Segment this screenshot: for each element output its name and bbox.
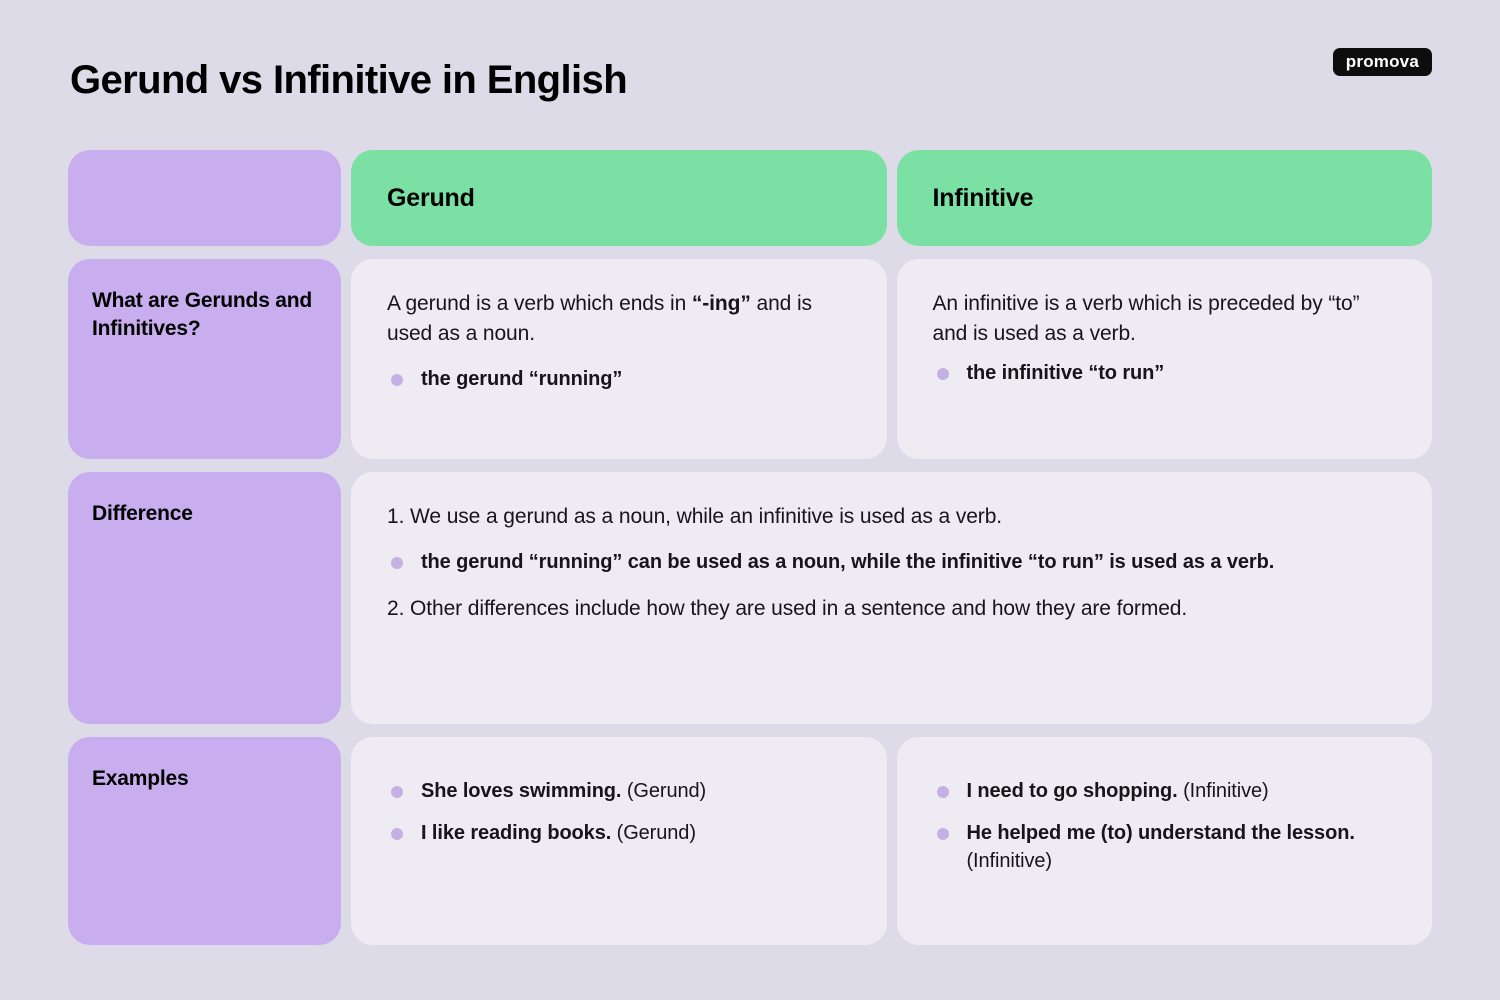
row-label-text: Examples — [92, 765, 317, 793]
header-cell-infinitive: Infinitive — [897, 150, 1433, 246]
bullet-dot-icon — [391, 374, 403, 386]
difference-bullets: the gerund “running” can be used as a no… — [387, 548, 1396, 576]
infinitive-definition-paragraph: An infinitive is a verb which is precede… — [933, 289, 1397, 349]
row-label-definitions: What are Gerunds and Infinitives? — [68, 259, 341, 459]
table-row: Difference 1. We use a gerund as a noun,… — [68, 472, 1432, 724]
header-cell-gerund: Gerund — [351, 150, 887, 246]
bullet-dot-icon — [937, 368, 949, 380]
table-header-row: Gerund Infinitive — [68, 150, 1432, 246]
list-item: the gerund “running” — [387, 365, 851, 393]
list-item: I need to go shopping. (Infinitive) — [933, 777, 1397, 805]
cell-difference-content: 1. We use a gerund as a noun, while an i… — [351, 472, 1432, 724]
bullet-text: the gerund “running” can be used as a no… — [421, 551, 1274, 573]
infinitive-example-bullets: I need to go shopping. (Infinitive) He h… — [933, 777, 1397, 875]
bullet-dot-icon — [937, 786, 949, 798]
bullet-dot-icon — [937, 828, 949, 840]
bullet-note: (Gerund) — [621, 780, 706, 802]
bullet-dot-icon — [391, 828, 403, 840]
page-title: Gerund vs Infinitive in English — [70, 58, 627, 103]
cell-infinitive-definition: An infinitive is a verb which is precede… — [897, 259, 1433, 459]
difference-paragraph-1: 1. We use a gerund as a noun, while an i… — [387, 502, 1396, 532]
row-label-text: Difference — [92, 500, 317, 528]
row-label-examples: Examples — [68, 737, 341, 945]
cell-gerund-definition: A gerund is a verb which ends in “-ing” … — [351, 259, 887, 459]
promova-logo-text: promova — [1346, 53, 1419, 70]
comparison-table: Gerund Infinitive What are Gerunds and I… — [68, 150, 1432, 945]
bullet-text: He helped me (to) understand the lesson. — [967, 822, 1355, 844]
header-label-gerund: Gerund — [387, 184, 475, 213]
bullet-note: (Gerund) — [611, 822, 696, 844]
bullet-dot-icon — [391, 557, 403, 569]
list-item: He helped me (to) understand the lesson.… — [933, 819, 1397, 875]
list-item: She loves swimming. (Gerund) — [387, 777, 851, 805]
gerund-definition-bullets: the gerund “running” — [387, 365, 851, 393]
table-row: Examples She loves swimming. (Gerund) I … — [68, 737, 1432, 945]
list-item: the gerund “running” can be used as a no… — [387, 548, 1396, 576]
promova-logo: promova — [1333, 48, 1432, 76]
bullet-text: I need to go shopping. — [967, 780, 1178, 802]
list-item: I like reading books. (Gerund) — [387, 819, 851, 847]
cell-gerund-examples: She loves swimming. (Gerund) I like read… — [351, 737, 887, 945]
bullet-note: (Infinitive) — [967, 850, 1053, 872]
table-row: What are Gerunds and Infinitives? A geru… — [68, 259, 1432, 459]
gerund-definition-part-1: A gerund is a verb which ends in — [387, 292, 692, 315]
difference-paragraph-2: 2. Other differences include how they ar… — [387, 594, 1396, 624]
gerund-definition-bold: “-ing” — [692, 292, 751, 315]
list-item: the infinitive “to run” — [933, 359, 1397, 387]
bullet-text: the gerund “running” — [421, 368, 622, 390]
gerund-definition-paragraph: A gerund is a verb which ends in “-ing” … — [387, 289, 851, 349]
infinitive-definition-bullets: the infinitive “to run” — [933, 359, 1397, 387]
bullet-dot-icon — [391, 786, 403, 798]
bullet-text: She loves swimming. — [421, 780, 621, 802]
cell-infinitive-examples: I need to go shopping. (Infinitive) He h… — [897, 737, 1433, 945]
bullet-note: (Infinitive) — [1178, 780, 1269, 802]
infographic-page: { "header": { "title": "Gerund vs Infini… — [0, 0, 1500, 1000]
bullet-text: the infinitive “to run” — [967, 362, 1165, 384]
page-header: Gerund vs Infinitive in English promova — [0, 0, 1500, 150]
header-cell-spacer — [68, 150, 341, 246]
row-label-difference: Difference — [68, 472, 341, 724]
header-label-infinitive: Infinitive — [933, 184, 1034, 213]
gerund-example-bullets: She loves swimming. (Gerund) I like read… — [387, 777, 851, 847]
row-label-text: What are Gerunds and Infinitives? — [92, 287, 317, 344]
bullet-text: I like reading books. — [421, 822, 611, 844]
